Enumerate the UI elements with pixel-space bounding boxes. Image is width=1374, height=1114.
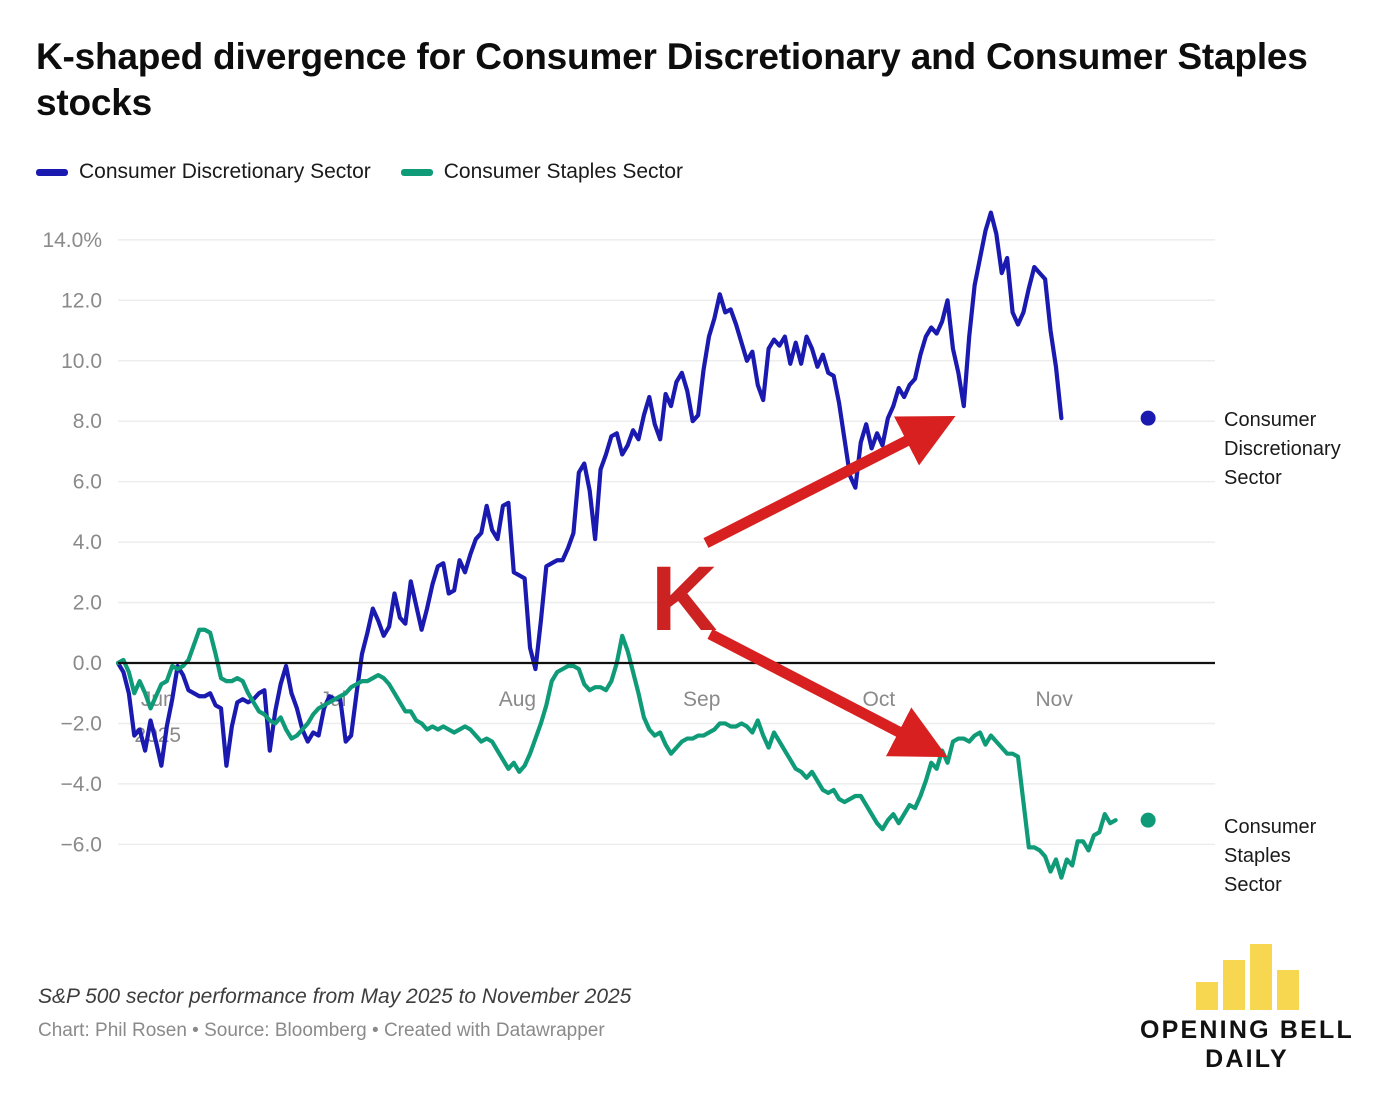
annotation-arrow-up [706, 428, 932, 543]
y-tick-label: 2.0 [73, 592, 102, 615]
footer-credit: Chart: Phil Rosen • Source: Bloomberg • … [38, 1020, 938, 1042]
chart-footer: S&P 500 sector performance from May 2025… [38, 985, 938, 1042]
logo-text-line-2: DAILY [1122, 1045, 1372, 1074]
x-tick-label: Oct [863, 688, 896, 711]
legend-item-discretionary[interactable]: Consumer Discretionary Sector [36, 160, 371, 184]
x-tick-label: Sep [683, 688, 720, 711]
opening-bell-daily-logo: OPENING BELL DAILY [1122, 938, 1372, 1073]
logo-bar [1250, 944, 1272, 1010]
legend-label-staples: Consumer Staples Sector [444, 160, 683, 184]
logo-bar [1277, 970, 1299, 1010]
series-lines [118, 213, 1116, 878]
y-tick-label: 4.0 [73, 531, 102, 554]
y-tick-label: 6.0 [73, 471, 102, 494]
y-tick-label: −6.0 [61, 833, 102, 856]
series-end-dot [1141, 411, 1156, 426]
chart-legend: Consumer Discretionary Sector Consumer S… [36, 160, 683, 184]
page-title: K-shaped divergence for Consumer Discret… [36, 34, 1346, 125]
legend-swatch-discretionary [36, 169, 68, 176]
series-end-markers [1141, 411, 1156, 828]
legend-item-staples[interactable]: Consumer Staples Sector [401, 160, 683, 184]
logo-text-line-1: OPENING BELL [1122, 1017, 1372, 1045]
series-end-dot [1141, 813, 1156, 828]
y-tick-label: 14.0% [42, 229, 102, 252]
series-end-labels: ConsumerDiscretionarySectorConsumerStapl… [1224, 409, 1341, 896]
y-tick-label: −4.0 [61, 773, 102, 796]
y-tick-label: −2.0 [61, 712, 102, 735]
logo-bar [1223, 960, 1245, 1010]
line-chart-svg: 14.0%12.010.08.06.04.02.00.0−2.0−4.0−6.0… [0, 200, 1374, 900]
chart-plot-area: 14.0%12.010.08.06.04.02.00.0−2.0−4.0−6.0… [0, 200, 1374, 900]
logo-bar [1196, 982, 1218, 1010]
y-tick-label: 12.0 [61, 289, 102, 312]
series-line [118, 213, 1061, 766]
logo-bar-chart-icon [1122, 938, 1372, 1010]
y-tick-label: 10.0 [61, 350, 102, 373]
series-end-label: Sector [1224, 874, 1282, 896]
x-tick-label: Aug [499, 688, 536, 711]
x-tick-label: Nov [1035, 688, 1073, 711]
k-letter-annotation: K [651, 548, 717, 650]
series-end-label: Consumer [1224, 409, 1317, 431]
y-axis-tick-labels: 14.0%12.010.08.06.04.02.00.0−2.0−4.0−6.0 [42, 229, 102, 857]
chart-page: K-shaped divergence for Consumer Discret… [0, 0, 1374, 1114]
legend-label-discretionary: Consumer Discretionary Sector [79, 160, 371, 184]
footer-note: S&P 500 sector performance from May 2025… [38, 985, 938, 1009]
legend-swatch-staples [401, 169, 433, 176]
y-tick-label: 0.0 [73, 652, 102, 675]
y-tick-label: 8.0 [73, 410, 102, 433]
series-end-label: Sector [1224, 467, 1282, 489]
series-end-label: Staples [1224, 845, 1291, 867]
series-line [118, 630, 1116, 878]
series-end-label: Discretionary [1224, 438, 1341, 460]
series-end-label: Consumer [1224, 816, 1317, 838]
